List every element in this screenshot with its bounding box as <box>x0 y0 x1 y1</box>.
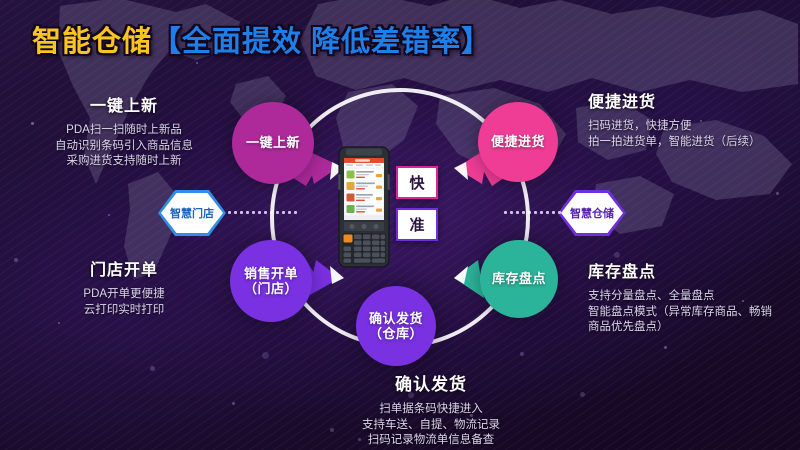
node-label: 一键上新 <box>246 135 300 150</box>
block-line: PDA扫一扫随时上新品 <box>24 123 224 139</box>
block-heading: 库存盘点 <box>588 258 800 282</box>
block-line: 智能盘点模式（异常库存商品、畅销 <box>588 305 800 321</box>
node-confirm-shipment[interactable]: 确认发货（仓库） <box>356 286 436 366</box>
node-label: 确认发货（仓库） <box>369 311 423 342</box>
title-blue-part: 【全面提效 降低差错率】 <box>152 26 491 58</box>
hexagon-label: 智慧门店 <box>170 205 214 221</box>
block-line: 商品优先盘点） <box>588 320 800 336</box>
pda-device-icon <box>338 146 390 268</box>
title-gold-part: 智能仓储 <box>32 26 152 58</box>
block-line: 扫单据条码快捷进入 <box>300 402 562 418</box>
badge-label: 快 <box>409 172 424 193</box>
feature-block-store-billing: 门店开单 PDA开单更便捷 云打印实时打印 <box>24 256 224 318</box>
block-line: 扫码记录物流单信息备查 <box>300 433 562 449</box>
workflow-cycle-diagram: 一键上新 便捷进货 销售开单（门店） 库存盘点 确认发货（仓库） 快 准 <box>210 88 590 388</box>
block-line: 扫码进货，快捷方便 <box>588 119 800 135</box>
block-line: PDA开单更便捷 <box>24 287 224 303</box>
node-sales-order[interactable]: 销售开单（门店） <box>230 240 312 322</box>
page-title: 智能仓储【全面提效 降低差错率】 <box>32 18 491 60</box>
node-one-click-new[interactable]: 一键上新 <box>232 102 314 184</box>
node-label: 销售开单（门店） <box>244 266 298 297</box>
node-label: 库存盘点 <box>492 271 546 286</box>
block-line: 采购进货支持随时上新 <box>24 154 224 170</box>
slide-canvas: 智能仓储【全面提效 降低差错率】 一键上新 PDA扫一扫随时上新品 自动识别条码… <box>0 0 800 450</box>
node-label: 便捷进货 <box>491 134 545 149</box>
block-heading: 门店开单 <box>24 256 224 280</box>
feature-block-inventory-count: 库存盘点 支持分量盘点、全量盘点 智能盘点模式（异常库存商品、畅销 商品优先盘点… <box>588 258 800 336</box>
block-line: 云打印实时打印 <box>24 303 224 319</box>
block-line: 支持分量盘点、全量盘点 <box>588 289 800 305</box>
block-heading: 便捷进货 <box>588 88 800 112</box>
block-line: 支持车送、自提、物流记录 <box>300 418 562 434</box>
badge-label: 准 <box>409 214 424 235</box>
node-convenient-purchase[interactable]: 便捷进货 <box>478 102 558 182</box>
block-line: 拍一拍进货单，智能进货（后续） <box>588 135 800 151</box>
badge-accurate: 准 <box>396 208 438 241</box>
badge-fast: 快 <box>396 166 438 199</box>
feature-block-one-click-new: 一键上新 PDA扫一扫随时上新品 自动识别条码引入商品信息 采购进货支持随时上新 <box>24 92 224 170</box>
feature-block-convenient-purchase: 便捷进货 扫码进货，快捷方便 拍一拍进货单，智能进货（后续） <box>588 88 800 150</box>
block-heading: 一键上新 <box>24 92 224 116</box>
node-inventory-count[interactable]: 库存盘点 <box>480 240 558 318</box>
block-line: 自动识别条码引入商品信息 <box>24 139 224 155</box>
